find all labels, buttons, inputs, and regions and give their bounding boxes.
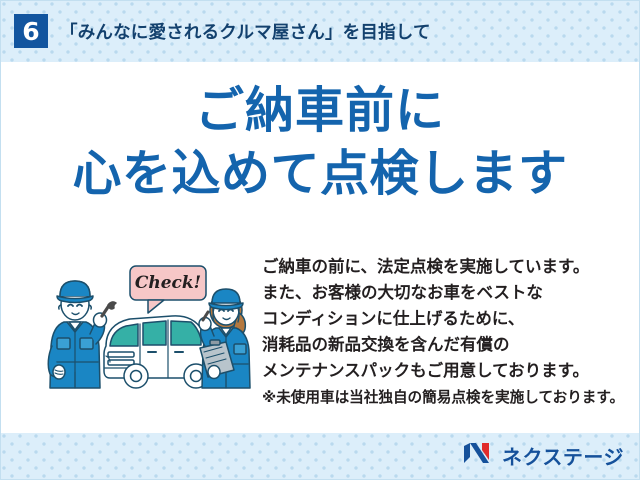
image-border bbox=[0, 0, 640, 480]
